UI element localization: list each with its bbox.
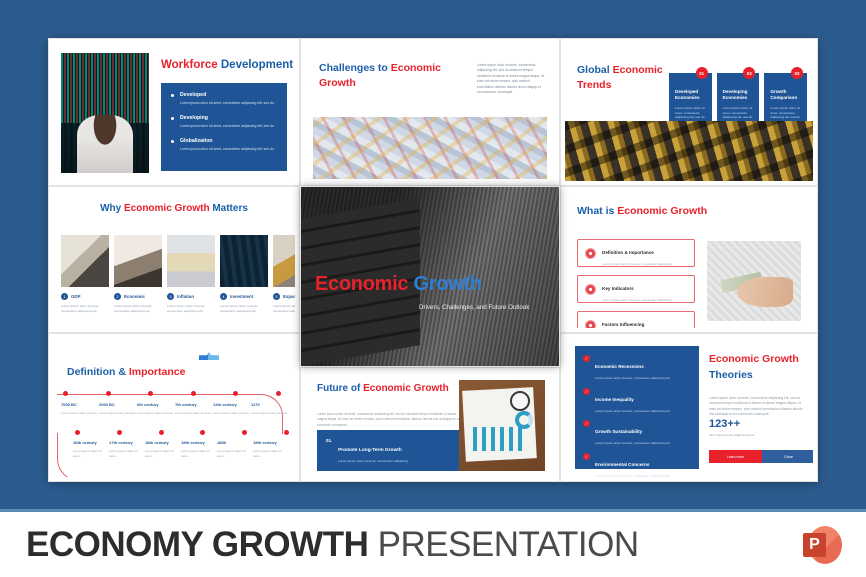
brand-logo-icon [199,352,219,360]
card-title: Developing Economies [723,89,754,102]
reason-desc: Lorem ipsum dolor sit amet, consectetur … [61,304,109,314]
slide-definition-and-importance[interactable]: Definition & Importance [48,333,300,482]
reason-label: Expansion [283,294,295,299]
bullet-panel: Developed Lorem ipsum dolor sit amet, co… [161,83,287,171]
timeline-year: 7th century [175,402,213,407]
list-item: Developed Lorem ipsum dolor sit amet, co… [171,92,277,106]
info-card-desc: Lorem ipsum dolor sit amet, consectetur … [602,298,672,302]
timeline-entry: 19th century Lorem ipsum dolor sit amet, [181,440,217,458]
caption-bold: ECONOMY GROWTH [26,525,368,564]
timeline-dot [148,391,153,396]
timeline-year: 19th century [181,440,217,445]
title-part-blue-2: Matters [210,203,248,214]
page-title: Global Economic Trends [577,63,669,93]
timeline-desc: Lorem ipsum dolor sit amet, [109,449,145,458]
list-item-desc: Lorem ipsum dolor sit amet, consectetur … [595,474,670,478]
card-number-badge: 01 [696,67,708,79]
body-text: Lorem ipsum dolor sit amet, consectetur … [477,63,545,96]
timeline-year: 18th century [145,440,181,445]
title-part-red: Economic Growth [363,383,449,394]
reason-photo [220,235,268,287]
timeline-dot-row-2 [75,430,289,435]
info-card-title: Definition & Importance [602,250,654,255]
list-item-title: Economic Recessions [595,364,644,369]
theories-content: Economic Growth Theories Lorem ipsum dol… [709,352,803,469]
timeline-desc: Lorem ipsum dolor sit amet, [137,411,175,416]
reason-card-group: 1 GDP Lorem ipsum dolor sit amet, consec… [61,235,295,314]
list-item-title: Promote Long-Term Growth [338,448,402,453]
timeline-year: 16th century [73,440,109,445]
timeline-label-row-1: 7000 BC Lorem ipsum dolor sit amet, 2000… [61,402,289,416]
reason-number: 4 [220,293,227,300]
title-part-blue: Development [221,59,293,71]
reason-card[interactable]: 5 Expansion Lorem ipsum dolor sit amet, … [273,235,295,314]
trader-photo [61,53,149,173]
charts-on-desk-photo [459,380,545,471]
timeline-desc: Lorem ipsum dolor sit amet, [99,411,137,416]
timeline-entry: 7th century Lorem ipsum dolor sit amet, [175,402,213,416]
bulb-icon [585,320,596,329]
list-item-title: Growth Sustainability [595,429,642,434]
title-part-red: Importance [129,366,186,378]
page-title: Economic Growth [315,273,482,296]
list-item-number: 01. [326,438,332,463]
reason-number: 1 [61,293,68,300]
timeline-entry: 12th century Lorem ipsum dolor sit amet, [213,402,251,416]
title-part-red: Workforce [161,59,218,71]
timeline-dot [106,391,111,396]
timeline-desc: Lorem ipsum dolor sit amet, [181,449,217,458]
info-card-title: Factors Influencing [602,322,644,327]
card-number-badge: 03 [791,67,803,79]
title-part-blue: Growth [413,273,481,295]
caption-light: PRESENTATION [378,525,639,564]
page-title: Definition & Importance [67,366,185,378]
reason-card[interactable]: 3 Inflation Lorem ipsum dolor sit amet, … [167,235,215,314]
body-text: Lorem ipsum dolor sit amet, consectetur … [709,396,803,418]
page-title: Future of Economic Growth [317,382,457,397]
slide-collage: Workforce Development Developed Lorem ip… [48,38,818,482]
list-item: ✓ Economic Recessions Lorem ipsum dolor … [583,355,691,380]
reason-photo [167,235,215,287]
list-item: ✓ Income Inequality Lorem ipsum dolor si… [583,388,691,413]
magnifier-graphic [510,391,530,411]
slide-what-is-economic-growth[interactable]: What is Economic Growth Definition & Imp… [560,186,818,333]
reason-desc: Lorem ipsum dolor sit amet, consectetur … [167,304,215,314]
caption-title: ECONOMY GROWTH PRESENTATION [26,525,639,565]
button-group: Learn more Close [709,450,813,463]
stat-block: 123++ Tips Choosing the Right Perfume [709,418,754,437]
logo-letter: P [803,533,826,557]
slide-hero-economic-growth[interactable]: Economic Growth Drivers, Challenges, and… [300,186,560,367]
timeline: 7000 BC Lorem ipsum dolor sit amet, 2000… [53,390,295,471]
timeline-entry: 16th century Lorem ipsum dolor sit amet, [73,440,109,458]
list-item-desc: Lorem ipsum dolor sit amet, consectetur … [171,124,277,129]
check-icon: ✓ [583,453,590,460]
list-item-number: 02. [326,471,332,477]
check-icon: ✓ [583,388,590,395]
slide-global-economic-trends[interactable]: Global Economic Trends 01 Developed Econ… [560,38,818,186]
chart-icon [585,284,596,295]
reason-card[interactable]: 1 GDP Lorem ipsum dolor sit amet, consec… [61,235,109,314]
reason-label: Inflation [177,294,194,299]
reason-desc: Lorem ipsum dolor sit amet, consectetur … [114,304,162,314]
slide-future-of-economic-growth[interactable]: Future of Economic Growth Lorem ipsum do… [300,367,560,482]
card-title: Developed Economies [675,89,706,102]
reason-label: Investment [230,294,253,299]
list-item: Developing Lorem ipsum dolor sit amet, c… [171,115,277,129]
timeline-year: 6th century [137,402,175,407]
timeline-entry: 2000 BC Lorem ipsum dolor sit amet, [99,402,137,416]
list-item-label: Developed [171,92,277,98]
info-card[interactable]: Key Indicators Lorem ipsum dolor sit ame… [577,275,695,303]
list-item: 01. Promote Long-Term Growth Lorem ipsum… [326,438,460,463]
timeline-dot [191,391,196,396]
title-part-blue: Definition & [67,366,126,378]
title-part-red: Economic [315,273,408,295]
powerpoint-logo: P [802,524,844,566]
reason-desc: Lorem ipsum dolor sit amet, consectetur … [220,304,268,314]
close-button[interactable]: Close [762,450,813,463]
list-item: ✓ Growth Sustainability Lorem ipsum dolo… [583,420,691,445]
timeline-dot [242,430,247,435]
hand-with-money-photo [707,241,801,321]
reason-photo [61,235,109,287]
hand-graphic [737,277,793,307]
timeline-desc: Lorem ipsum dolor sit amet, [253,449,289,458]
title-part-red: Economic Growth [709,353,799,365]
timeline-desc: Lorem ipsum dolor sit amet, [73,449,109,458]
title-part-blue: Theories [709,369,753,381]
timeline-entry: 19th century Lorem ipsum dolor sit amet, [253,440,289,458]
timeline-desc: Lorem ipsum dolor sit amet, [251,411,289,416]
list-item: Globalization Lorem ipsum dolor sit amet… [171,138,277,152]
timeline-year: 19th century [253,440,289,445]
timeline-year: 1808 [217,440,253,445]
timeline-label-row-2: 16th century Lorem ipsum dolor sit amet,… [73,440,289,458]
check-icon: ✓ [583,355,590,362]
stat-caption: Tips Choosing the Right Perfume [709,433,754,437]
learn-more-button[interactable]: Learn more [709,450,762,463]
info-card-desc: Lorem ipsum dolor sit amet, consectetur … [602,262,672,266]
slide-economic-growth-theories[interactable]: ✓ Economic Recessions Lorem ipsum dolor … [560,333,818,482]
timeline-dot [159,430,164,435]
gold-bars-photo [565,121,813,181]
list-item-desc: Lorem ipsum dolor sit amet, consectetur … [171,101,277,106]
timeline-desc: Lorem ipsum dolor sit amet, [217,449,253,458]
timeline-entry: 1170 Lorem ipsum dolor sit amet, [251,402,289,416]
timeline-entry: 17th century Lorem ipsum dolor sit amet, [109,440,145,458]
timeline-dot [63,391,68,396]
info-card[interactable]: Factors Influencing Lorem ipsum dolor si… [577,311,695,328]
page-title: What is Economic Growth [577,205,707,217]
timeline-desc: Lorem ipsum dolor sit amet, [145,449,181,458]
timeline-desc: Lorem ipsum dolor sit amet, [175,411,213,416]
timeline-entry: 18th century Lorem ipsum dolor sit amet, [145,440,181,458]
list-item-desc: Lorem ipsum dolor sit amet, consectetur … [338,459,409,463]
card-number-badge: 02 [743,67,755,79]
timeline-dot [233,391,238,396]
person-graphic [77,115,133,173]
info-card-title: Key Indicators [602,286,634,291]
list-item-label: Globalization [171,138,277,144]
reason-photo [273,235,295,287]
card-title: Growth Comparison [770,89,801,102]
timeline-entry: 6th century Lorem ipsum dolor sit amet, [137,402,175,416]
page-title: Workforce Development [161,59,293,71]
numbered-list-panel: 01. Promote Long-Term Growth Lorem ipsum… [317,430,469,471]
subtitle: Drivers, Challenges, and Future Outlook [419,303,549,313]
timeline-dot-row-1 [63,391,281,396]
slide-challenges-to-economic-growth[interactable]: Challenges to Economic Growth Lorem ipsu… [300,38,560,186]
list-item-desc: Lorem ipsum dolor sit amet, consectetur … [171,147,277,152]
timeline-dot [75,430,80,435]
slide-why-economic-growth-matters[interactable]: Why Economic Growth Matters 1 GDP Lorem … [48,186,300,333]
reason-number: 3 [167,293,174,300]
list-item-title: Income Inequality [595,397,634,402]
bar-chart-graphic [473,427,523,451]
title-part-red: Economic Growth [617,205,707,217]
dollar-bills-photo [313,117,547,179]
checklist-panel: ✓ Economic Recessions Lorem ipsum dolor … [575,346,699,469]
list-item-desc: Lorem ipsum dolor sit amet, consectetur … [595,409,670,413]
timeline-year: 2000 BC [99,402,137,407]
info-card-group: Definition & Importance Lorem ipsum dolo… [577,239,695,328]
gear-icon [585,248,596,259]
title-part-blue: Challenges to [319,62,388,74]
list-item: 02. Economic Expansion Lorem ipsum dolor… [326,471,460,477]
timeline-desc: Lorem ipsum dolor sit amet, [213,411,251,416]
timeline-dot [200,430,205,435]
presentation-preview-page: Workforce Development Developed Lorem ip… [0,0,866,577]
list-item: ✓ Environmental Concerns Lorem ipsum dol… [583,453,691,478]
page-title: Economic Growth Theories [709,352,803,384]
page-title: Challenges to Economic Growth [319,61,464,91]
reason-label: GDP [71,294,81,299]
title-part-red: Economic Growth [124,203,210,214]
body-text: Lorem ipsum dolor sit amet, consectetur … [317,412,467,428]
timeline-year: 1170 [251,402,289,407]
timeline-entry: 1808 Lorem ipsum dolor sit amet, [217,440,253,458]
stat-number: 123++ [709,418,754,430]
timeline-dot [117,430,122,435]
reason-desc: Lorem ipsum dolor sit amet, consectetur … [273,304,295,314]
candlestick-chart-graphic [61,53,149,123]
donut-chart-graphic [515,411,533,429]
reason-card[interactable]: 4 Investment Lorem ipsum dolor sit amet,… [220,235,268,314]
info-card[interactable]: Definition & Importance Lorem ipsum dolo… [577,239,695,267]
title-part-blue-1: Why [100,203,124,214]
timeline-year: 12th century [213,402,251,407]
timeline-desc: Lorem ipsum dolor sit amet, [61,411,99,416]
list-item-title: Environmental Concerns [595,462,649,467]
timeline-entry: 7000 BC Lorem ipsum dolor sit amet, [61,402,99,416]
caption-bar: ECONOMY GROWTH PRESENTATION P [0,512,866,577]
timeline-dot [276,391,281,396]
title-part-blue: What is [577,205,614,217]
timeline-year: 17th century [109,440,145,445]
list-item-desc: Lorem ipsum dolor sit amet, consectetur … [595,376,670,380]
reason-number: 5 [273,293,280,300]
timeline-year: 7000 BC [61,402,99,407]
slide-workforce-development[interactable]: Workforce Development Developed Lorem ip… [48,38,300,186]
reason-card[interactable]: 2 Economic Lorem ipsum dolor sit amet, c… [114,235,162,314]
check-icon: ✓ [583,420,590,427]
title-part-blue: Future of [317,383,360,394]
page-title: Why Economic Growth Matters [53,203,295,214]
reason-number: 2 [114,293,121,300]
timeline-dot [284,430,289,435]
list-item-label: Developing [171,115,277,121]
title-part-blue: Global [577,64,610,76]
reason-photo [114,235,162,287]
list-item-desc: Lorem ipsum dolor sit amet, consectetur … [595,441,670,445]
reason-label: Economic [124,294,145,299]
